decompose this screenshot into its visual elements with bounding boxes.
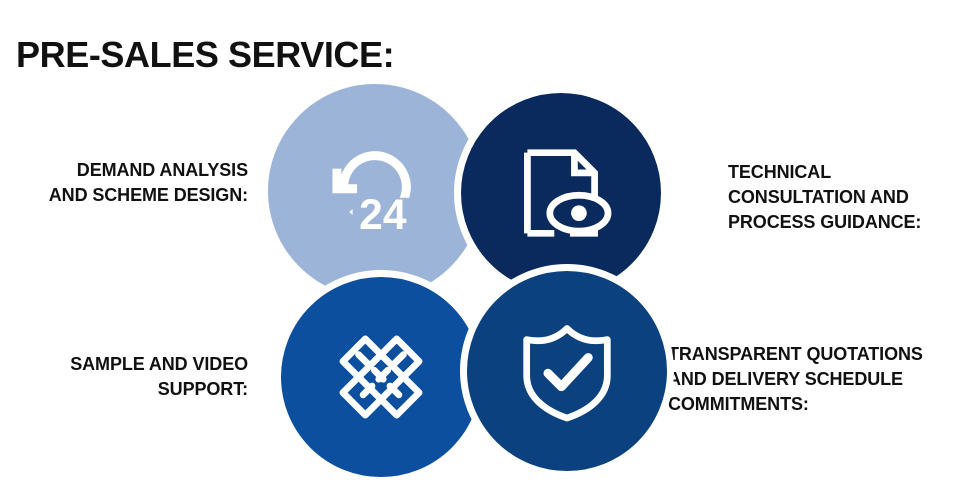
document-eye-icon bbox=[505, 137, 617, 249]
service-label-transparent-quotations: TRANSPARENT QUOTATIONS AND DELIVERY SCHE… bbox=[668, 342, 960, 417]
clock-24-arrow-icon: 24 bbox=[319, 135, 431, 247]
pen-ruler-icon bbox=[325, 321, 437, 433]
shield-check-icon bbox=[511, 315, 623, 427]
svg-text:24: 24 bbox=[359, 191, 407, 239]
service-circle-sample-video-support[interactable] bbox=[274, 270, 488, 484]
service-circle-transparent-quotations[interactable] bbox=[460, 264, 674, 478]
service-circle-demand-analysis[interactable]: 24 bbox=[268, 84, 482, 298]
page-title: PRE-SALES SERVICE: bbox=[16, 32, 394, 78]
service-label-demand-analysis: DEMAND ANALYSIS AND SCHEME DESIGN: bbox=[0, 158, 248, 208]
service-circle-cluster: 24 bbox=[268, 84, 660, 474]
service-label-technical-consultation: TECHNICAL CONSULTATION AND PROCESS GUIDA… bbox=[728, 160, 960, 235]
service-label-sample-video-support: SAMPLE AND VIDEO SUPPORT: bbox=[0, 352, 248, 402]
